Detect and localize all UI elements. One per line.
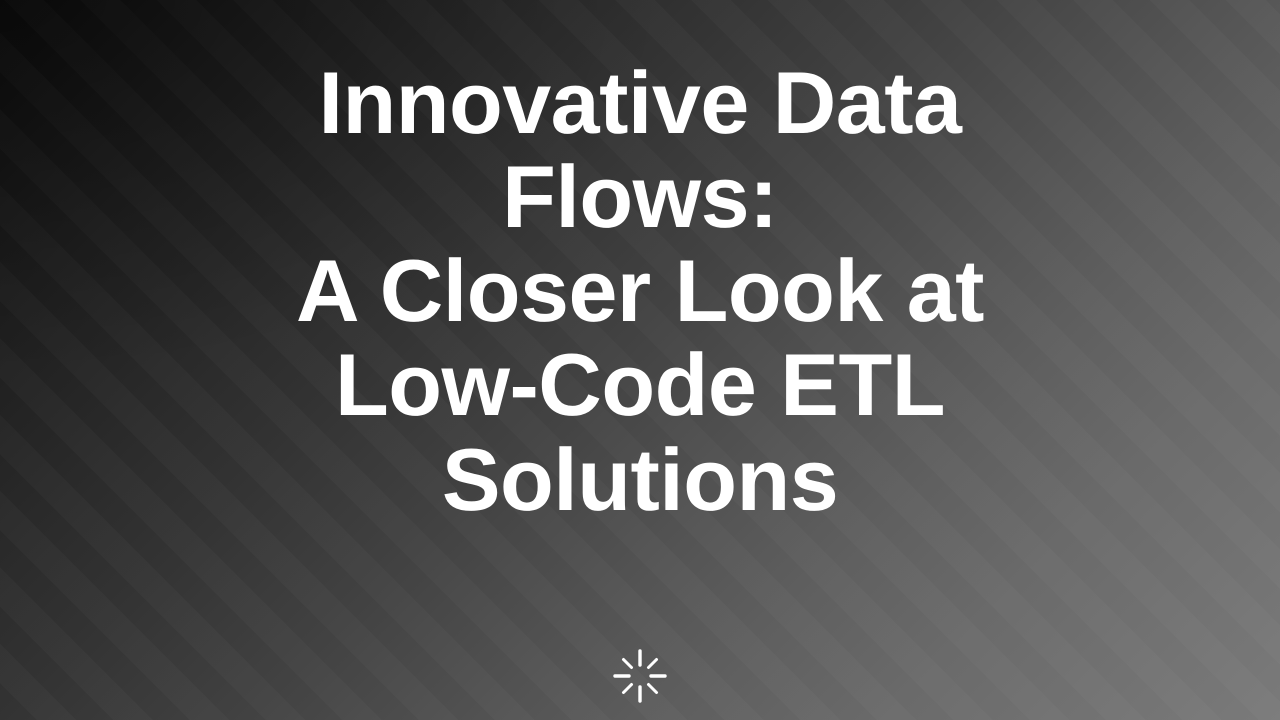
footer-spinner-area bbox=[0, 648, 1280, 704]
title-slide: Innovative Data Flows: A Closer Look at … bbox=[0, 0, 1280, 720]
title-line-2: Flows: bbox=[70, 150, 1210, 244]
title-line-1: Innovative Data bbox=[70, 56, 1210, 150]
title-line-3: A Closer Look at bbox=[70, 244, 1210, 338]
loading-spinner-icon bbox=[612, 648, 668, 704]
title-line-4: Low-Code ETL bbox=[70, 338, 1210, 432]
slide-content: Innovative Data Flows: A Closer Look at … bbox=[0, 0, 1280, 720]
title-line-5: Solutions bbox=[70, 433, 1210, 527]
page-title: Innovative Data Flows: A Closer Look at … bbox=[70, 56, 1210, 527]
